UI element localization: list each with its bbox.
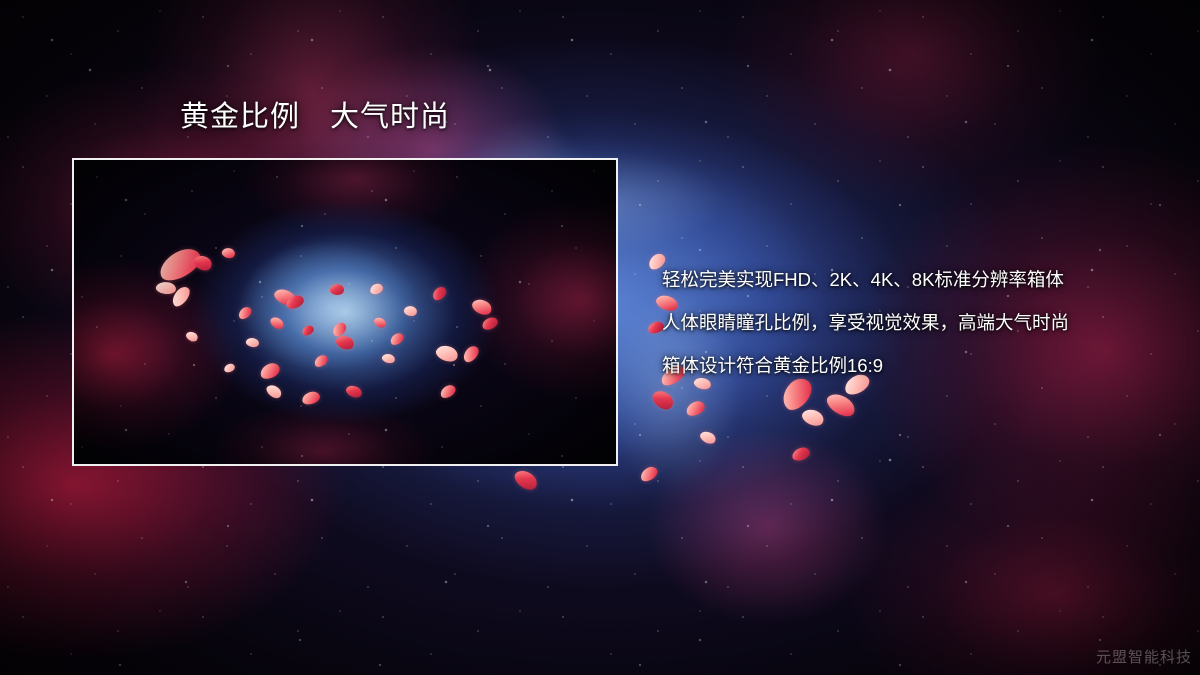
- feature-line-3: 箱体设计符合黄金比例16:9: [662, 344, 1172, 387]
- petal: [684, 399, 706, 418]
- inner-image-vignette: [74, 160, 616, 464]
- feature-line-2: 人体眼睛瞳孔比例，享受视觉效果，高端大气时尚: [662, 301, 1172, 344]
- feature-line-1: 轻松完美实现FHD、2K、4K、8K标准分辨率箱体: [662, 258, 1172, 301]
- petal: [650, 387, 677, 414]
- company-watermark: 元盟智能科技: [1096, 646, 1192, 667]
- presentation-slide: 黄金比例 大气时尚 轻松完美实现FHD、2K、4K、8K标准分辨率箱体 人体眼睛…: [0, 0, 1200, 675]
- petal: [791, 446, 811, 462]
- slide-title: 黄金比例 大气时尚: [180, 103, 450, 132]
- petal: [698, 429, 717, 447]
- petal: [512, 466, 541, 494]
- feature-text-block: 轻松完美实现FHD、2K、4K、8K标准分辨率箱体 人体眼睛瞳孔比例，享受视觉效…: [662, 258, 1172, 387]
- framed-hero-image: [72, 158, 618, 466]
- petal: [638, 464, 660, 483]
- petal: [824, 389, 859, 421]
- petal: [800, 406, 826, 430]
